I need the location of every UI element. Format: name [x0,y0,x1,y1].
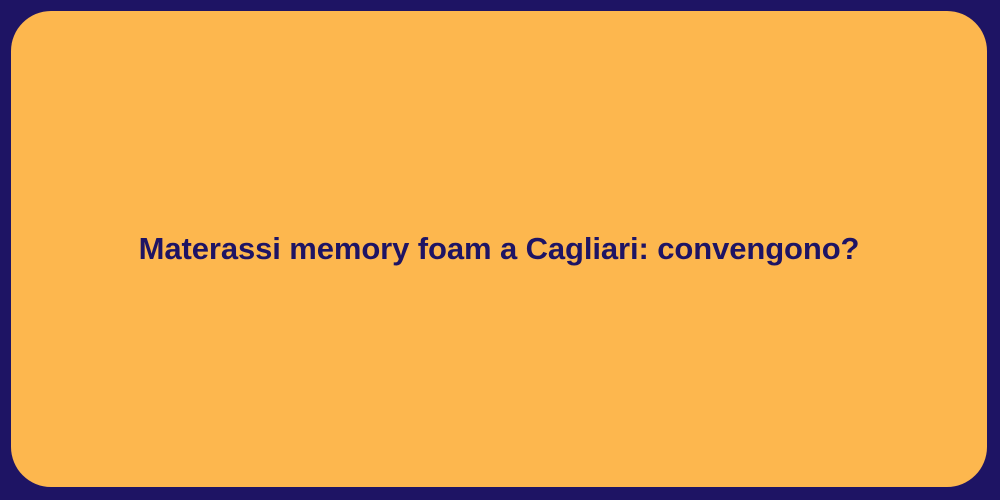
banner-card: Materassi memory foam a Cagliari: conven… [11,11,987,487]
banner-title: Materassi memory foam a Cagliari: conven… [115,230,884,267]
page-frame: Materassi memory foam a Cagliari: conven… [0,0,1000,500]
